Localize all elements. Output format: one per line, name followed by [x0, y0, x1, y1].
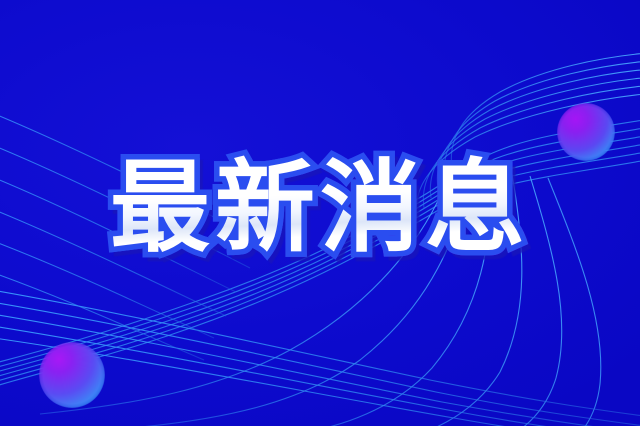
news-banner: 最新消息 最新消息 最新消息 — [0, 0, 640, 426]
headline-container: 最新消息 最新消息 最新消息 — [0, 158, 640, 258]
headline-text: 最新消息 — [110, 149, 530, 266]
small-glow-orb — [557, 103, 615, 161]
headline-title: 最新消息 最新消息 最新消息 — [110, 158, 530, 258]
large-glow-orb — [39, 342, 105, 408]
